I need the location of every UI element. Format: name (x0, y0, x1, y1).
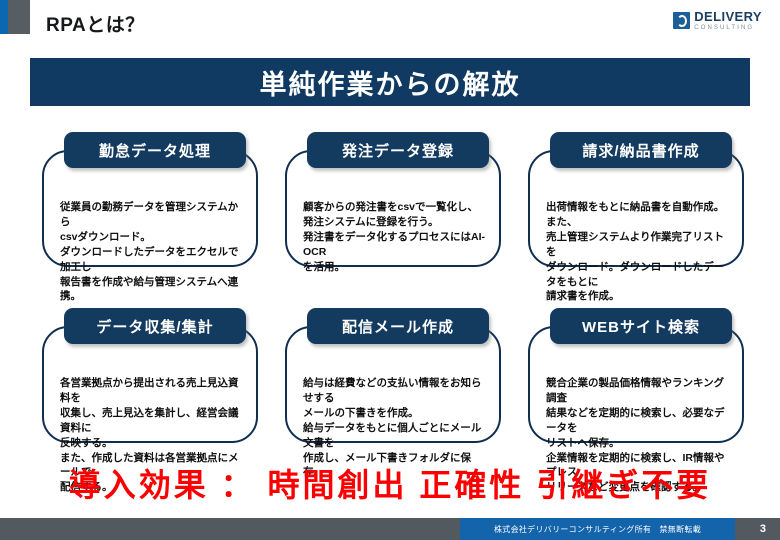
card-header: 勤怠データ処理 (64, 132, 246, 168)
card-attendance-data: 従業員の勤務データを管理システムから csvダウンロード。 ダウンロードしたデー… (38, 132, 262, 267)
page-title: RPAとは？ (46, 10, 145, 37)
slide: RPAとは？ DELIVERY CONSULTING 単純作業からの解放 従業員… (0, 0, 780, 540)
logo-main-text: DELIVERY (694, 10, 762, 23)
card-description: 出荷情報をもとに納品書を自動作成。また、 売上管理システムより作業完了リストを … (546, 200, 732, 304)
footer-copyright-text: 株式会社デリバリーコンサルティング所有 禁無断転載 (494, 524, 701, 535)
page-number: 3 (760, 518, 766, 540)
card-header: データ収集/集計 (64, 308, 246, 344)
card-header: WEBサイト検索 (550, 308, 732, 344)
footer-copyright-block: 株式会社デリバリーコンサルティング所有 禁無断転載 (460, 518, 735, 540)
card-description: 従業員の勤務データを管理システムから csvダウンロード。 ダウンロードしたデー… (60, 200, 246, 304)
card-title: WEBサイト検索 (582, 316, 700, 337)
card-title: データ収集/集計 (96, 316, 213, 337)
section-banner-title: 単純作業からの解放 (260, 63, 521, 102)
card-website-search: 競合企業の製品価格情報やランキング調査 結果などを定期的に検索し、必要なデータを… (524, 308, 748, 443)
effect-summary: 導入効果 ： 時間創出 正確性 引継ぎ不要 (0, 460, 780, 506)
card-header: 配信メール作成 (307, 308, 489, 344)
card-grid: 従業員の勤務データを管理システムから csvダウンロード。 ダウンロードしたデー… (38, 132, 748, 443)
card-description: 顧客からの発注書をcsvで一覧化し、 発注システムに登録を行う。 発注書をデータ… (303, 200, 489, 275)
card-title: 請求/納品書作成 (582, 140, 699, 161)
card-mail-creation: 給与は経費などの支払い情報をお知らせする メールの下書きを作成。 給与データをも… (281, 308, 505, 443)
card-title: 配信メール作成 (342, 316, 454, 337)
corner-accent-gray (8, 0, 30, 34)
footer-bar: 株式会社デリバリーコンサルティング所有 禁無断転載 3 (0, 518, 780, 540)
corner-accent-blue (0, 0, 8, 34)
card-title: 発注データ登録 (342, 140, 454, 161)
card-title: 勤怠データ処理 (99, 140, 211, 161)
card-header: 請求/納品書作成 (550, 132, 732, 168)
card-order-data: 顧客からの発注書をcsvで一覧化し、 発注システムに登録を行う。 発注書をデータ… (281, 132, 505, 267)
section-banner: 単純作業からの解放 (30, 58, 750, 106)
company-logo: DELIVERY CONSULTING (673, 10, 762, 31)
delivery-logo-icon (673, 12, 690, 29)
card-header: 発注データ登録 (307, 132, 489, 168)
logo-sub-text: CONSULTING (694, 25, 762, 31)
logo-text: DELIVERY CONSULTING (694, 10, 762, 31)
card-invoice-delivery-note: 出荷情報をもとに納品書を自動作成。また、 売上管理システムより作業完了リストを … (524, 132, 748, 267)
card-data-collection: 各営業拠点から提出される売上見込資料を 収集し、売上見込を集計し、経営会議資料に… (38, 308, 262, 443)
